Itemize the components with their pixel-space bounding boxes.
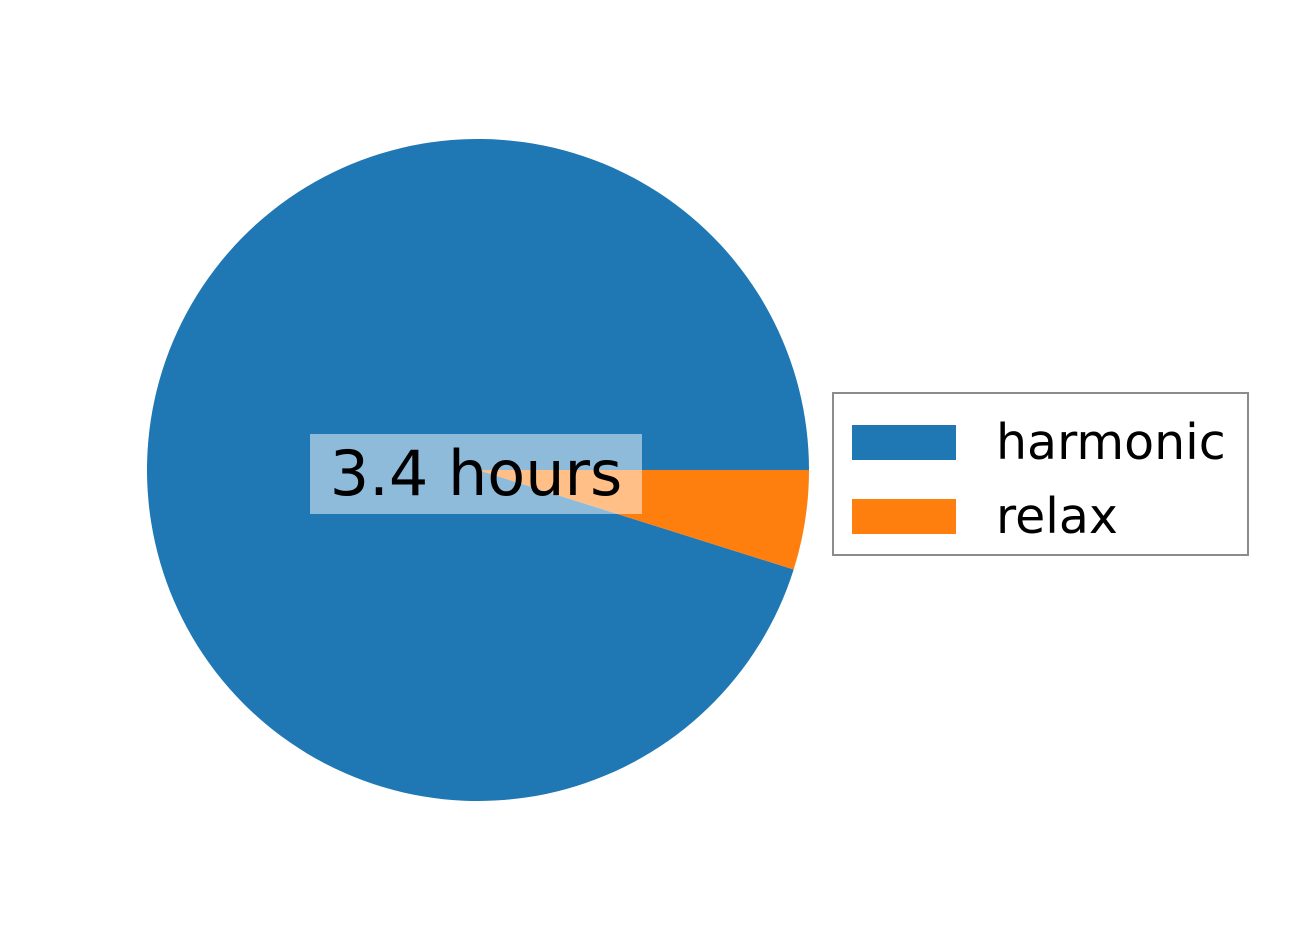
legend-swatch-relax	[852, 499, 956, 534]
legend-label-relax: relax	[996, 492, 1118, 541]
legend-swatch-harmonic	[852, 425, 956, 460]
legend-entry-relax[interactable]: relax	[852, 492, 1118, 541]
pie-chart-figure: 3.4 hours harmonic relax	[0, 0, 1307, 951]
legend-entry-harmonic[interactable]: harmonic	[852, 418, 1226, 467]
legend: harmonic relax	[832, 392, 1249, 556]
legend-label-harmonic: harmonic	[996, 418, 1226, 467]
pie-slice-label-harmonic: 3.4 hours	[310, 434, 642, 514]
pie-slice-label-harmonic-text: 3.4 hours	[330, 443, 623, 505]
